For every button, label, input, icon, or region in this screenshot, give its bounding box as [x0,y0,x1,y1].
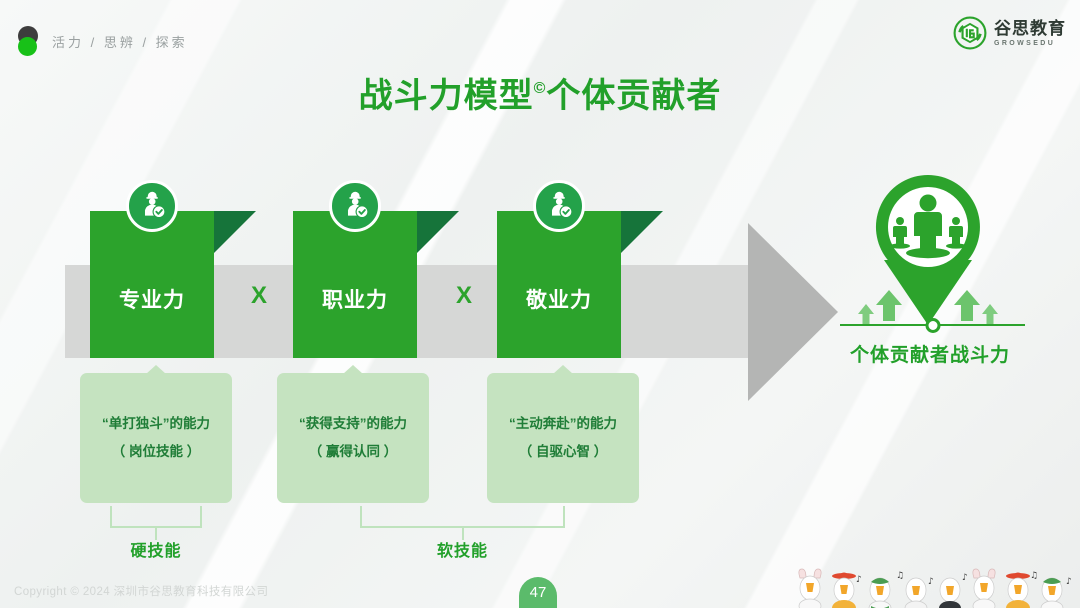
copyright-mark: © [534,80,547,97]
skill-bracket-soft [360,506,565,528]
skill-group-label-hard: 硬技能 [106,537,206,561]
card-notch [343,365,363,374]
svg-text:♫: ♫ [1030,571,1038,581]
card-line-1: “主动奔赴”的能力 [509,410,617,438]
svg-text:♪: ♪ [1066,577,1072,587]
svg-text:♪: ♪ [856,575,862,585]
footer-copyright: Copyright © 2024 深圳市谷思教育科技有限公司 [14,583,268,599]
pillar-corner-fold [621,211,663,253]
duck-chorus-icon: ♪♫ ♪♪ ♫♪ [790,564,1080,608]
pillar-corner-fold [214,211,256,253]
card-line-1: “单打独斗”的能力 [102,410,210,438]
skill-bracket-hard [110,506,202,528]
svg-text:♪: ♪ [962,573,968,583]
logo-name-cn: 谷思教育 [994,20,1066,37]
slide-title-part-a: 战斗力模型 [359,77,534,115]
multiplier-symbol-2: X [449,282,479,310]
pillar-card-3[interactable]: 敬业力 [497,211,621,358]
page-number-badge: 47 [519,577,557,608]
card-line-1: “获得支持”的能力 [299,410,407,438]
description-card-2[interactable]: “获得支持”的能力 （ 赢得认同 ） [277,373,429,503]
description-card-3[interactable]: “主动奔赴”的能力 （ 自驱心智 ） [487,373,639,503]
card-line-2: （ 赢得认同 ） [309,438,398,466]
card-line-2: （ 自驱心智 ） [519,438,608,466]
growsedu-logo-icon [953,16,987,50]
card-notch [553,365,573,374]
skill-group-label-soft: 软技能 [360,537,565,561]
slide-header: 活力 / 思辨 / 探索 谷思教育 GROWSEDU [0,0,1080,66]
header-tagline: 活力 / 思辨 / 探索 [52,32,188,51]
result-line-node [925,318,940,333]
brand-dot-green [18,37,37,56]
description-card-1[interactable]: “单打独斗”的能力 （ 岗位技能 ） [80,373,232,503]
svg-text:♪: ♪ [928,577,934,587]
card-line-2: （ 岗位技能 ） [112,438,201,466]
worker-verified-icon [533,180,585,232]
multiplier-symbol-1: X [244,282,274,310]
svg-text:♫: ♫ [896,571,904,581]
slide-title-part-b: 个体贡献者 [546,77,721,115]
logo-text: 谷思教育 GROWSEDU [994,20,1066,47]
right-arrow-icon [748,223,838,401]
flow-track-bar-tail [640,265,752,358]
pillar-card-1[interactable]: 专业力 [90,211,214,358]
logo-name-en: GROWSEDU [994,40,1066,47]
company-logo: 谷思教育 GROWSEDU [953,14,1066,52]
result-label: 个体贡献者战斗力 [820,340,1040,367]
worker-verified-icon [329,180,381,232]
pillar-corner-fold [417,211,459,253]
pillar-label-2: 职业力 [293,211,417,358]
slide-title: 战斗力模型©个体贡献者 [0,68,1080,117]
pillar-label-1: 专业力 [90,211,214,358]
pillar-card-2[interactable]: 职业力 [293,211,417,358]
card-notch [146,365,166,374]
worker-verified-icon [126,180,178,232]
brand-dot-icon [16,26,40,56]
pillar-label-3: 敬业力 [497,211,621,358]
result-connector-line [840,318,1025,332]
